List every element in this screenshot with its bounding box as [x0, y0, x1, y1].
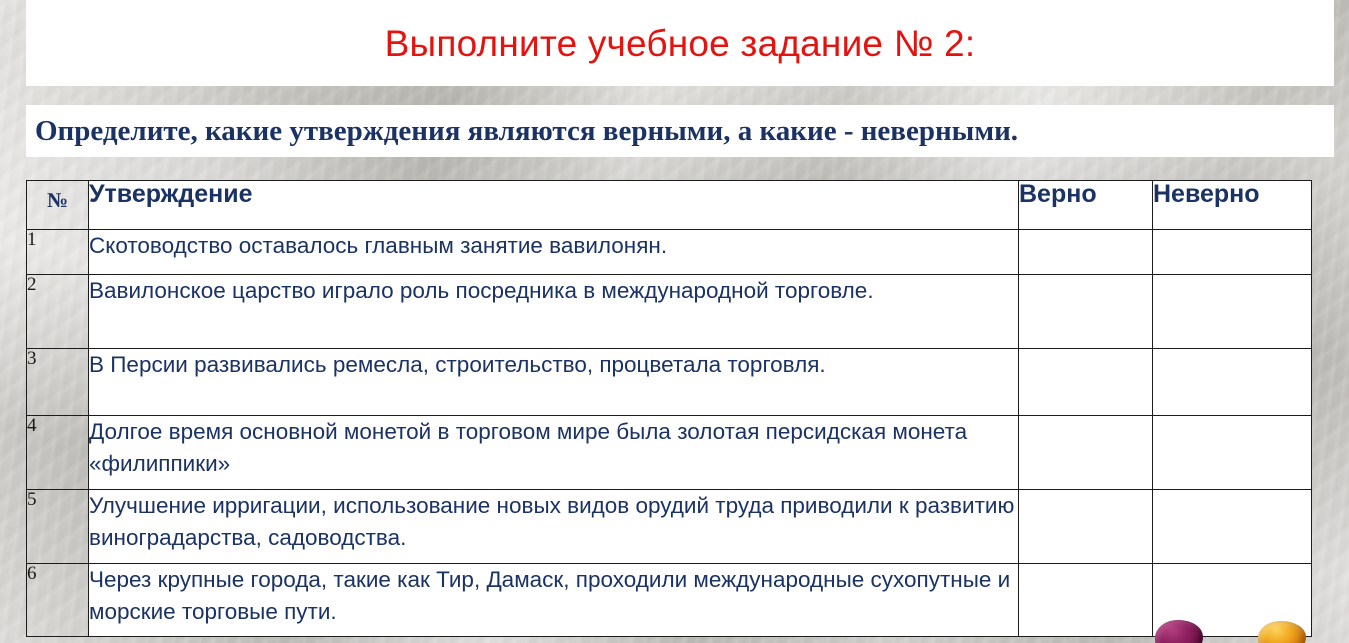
row-statement: Улучшение ирригации, использование новых… [89, 490, 1019, 564]
row-false-cell[interactable] [1153, 275, 1312, 349]
page-title: Выполните учебное задание № 2: [385, 25, 976, 62]
row-statement: Через крупные города, такие как Тир, Дам… [89, 564, 1019, 637]
row-false-cell[interactable] [1153, 349, 1312, 416]
table-row: 1 Скотоводство оставалось главным заняти… [27, 230, 1312, 275]
row-number: 2 [27, 275, 89, 349]
page-subtitle: Определите, какие утверждения являются в… [35, 117, 1018, 146]
row-true-cell[interactable] [1019, 416, 1153, 490]
column-header-number: № [27, 181, 89, 230]
row-true-cell[interactable] [1019, 490, 1153, 564]
row-true-cell[interactable] [1019, 564, 1153, 637]
slide: Выполните учебное задание № 2: Определит… [0, 0, 1349, 643]
column-header-statement: Утверждение [89, 181, 1019, 230]
row-false-cell[interactable] [1153, 416, 1312, 490]
row-statement: Скотоводство оставалось главным занятие … [89, 230, 1019, 275]
row-number: 5 [27, 490, 89, 564]
title-banner: Выполните учебное задание № 2: [26, 0, 1334, 86]
column-header-false: Неверно [1153, 181, 1312, 230]
row-number: 4 [27, 416, 89, 490]
row-true-cell[interactable] [1019, 275, 1153, 349]
row-false-cell[interactable] [1153, 230, 1312, 275]
subtitle-banner: Определите, какие утверждения являются в… [26, 105, 1334, 157]
row-false-cell[interactable] [1153, 490, 1312, 564]
table-header-row: № Утверждение Верно Неверно [27, 181, 1312, 230]
row-true-cell[interactable] [1019, 230, 1153, 275]
row-statement: Вавилонское царство играло роль посредни… [89, 275, 1019, 349]
row-statement: В Персии развивались ремесла, строительс… [89, 349, 1019, 416]
row-number: 6 [27, 564, 89, 637]
row-statement: Долгое время основной монетой в торговом… [89, 416, 1019, 490]
row-number: 3 [27, 349, 89, 416]
column-header-true: Верно [1019, 181, 1153, 230]
table-row: 3 В Персии развивались ремесла, строител… [27, 349, 1312, 416]
row-number: 1 [27, 230, 89, 275]
table-row: 5 Улучшение ирригации, использование нов… [27, 490, 1312, 564]
table-row: 4 Долгое время основной монетой в торгов… [27, 416, 1312, 490]
statements-table: № Утверждение Верно Неверно 1 Скотоводст… [26, 180, 1312, 637]
table-row: 6 Через крупные города, такие как Тир, Д… [27, 564, 1312, 637]
row-true-cell[interactable] [1019, 349, 1153, 416]
table-row: 2 Вавилонское царство играло роль посред… [27, 275, 1312, 349]
